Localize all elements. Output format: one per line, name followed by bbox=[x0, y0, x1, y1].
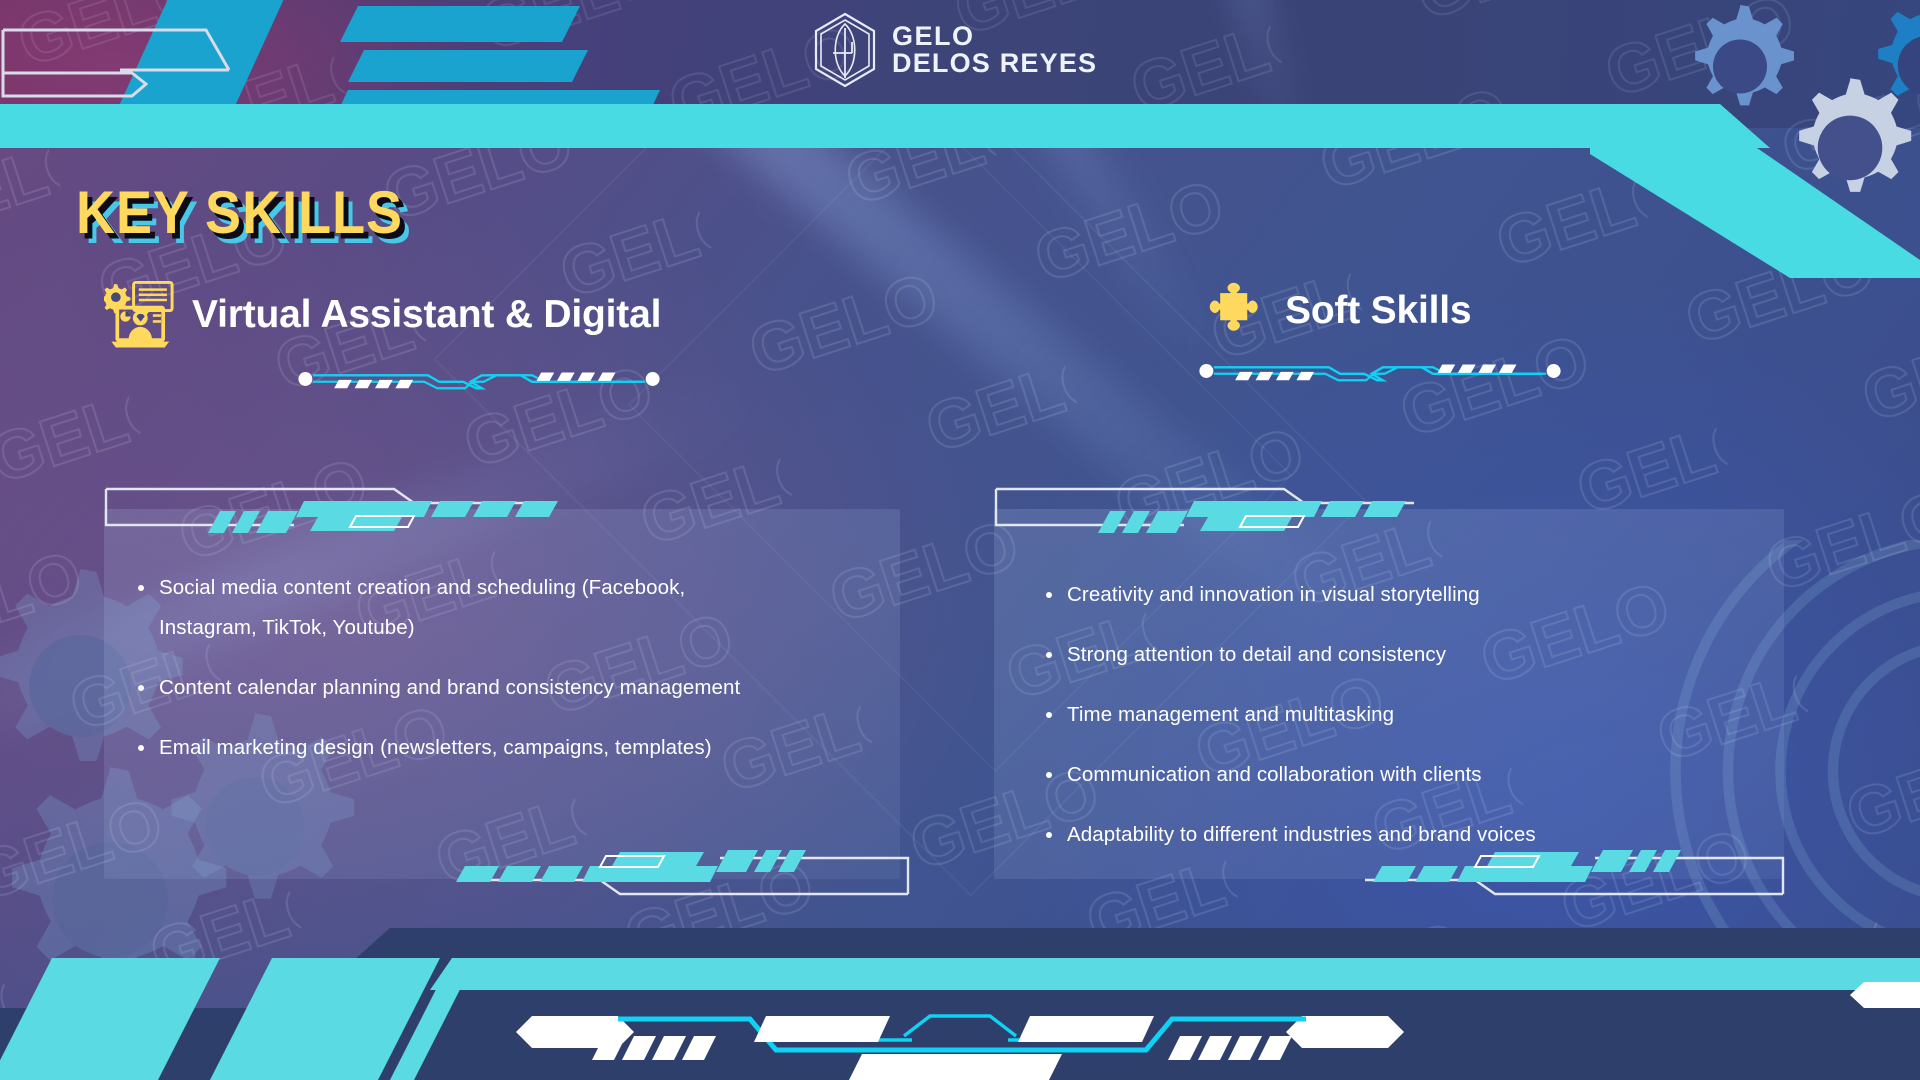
list-item: Email marketing design (newsletters, cam… bbox=[132, 728, 752, 768]
top-left-cyan-shape-3 bbox=[348, 50, 588, 82]
bullet-list-left-wrap: Social media content creation and schedu… bbox=[132, 568, 752, 788]
column-virtual-assistant: Virtual Assistant & Digital bbox=[104, 278, 804, 397]
list-item: Time management and multitasking bbox=[1040, 695, 1700, 735]
column-title-left: Virtual Assistant & Digital bbox=[192, 293, 661, 337]
bullet-list-left: Social media content creation and schedu… bbox=[132, 568, 752, 768]
list-item: Adaptability to different industries and… bbox=[1040, 815, 1700, 855]
bullet-list-right-wrap: Creativity and innovation in visual stor… bbox=[1040, 575, 1700, 875]
page-title: KEY SKILLS bbox=[76, 178, 403, 247]
virtual-assistant-screen-icon bbox=[104, 278, 178, 352]
column-header-left: Virtual Assistant & Digital bbox=[104, 278, 804, 352]
list-item: Strong attention to detail and consisten… bbox=[1040, 635, 1700, 675]
top-left-cyan-shape-2 bbox=[340, 6, 580, 42]
cyan-band-top bbox=[0, 104, 1920, 148]
divider-right bbox=[1185, 358, 1575, 384]
puzzle-piece-icon bbox=[1205, 278, 1271, 344]
column-title-right: Soft Skills bbox=[1285, 289, 1471, 333]
hexagon-monogram-icon bbox=[812, 12, 878, 88]
brand-logo: GELO DELOS REYES bbox=[812, 12, 1097, 88]
logo-line-1: GELO bbox=[892, 23, 1097, 50]
list-item: Communication and collaboration with cli… bbox=[1040, 755, 1700, 795]
list-item: Creativity and innovation in visual stor… bbox=[1040, 575, 1700, 615]
column-soft-skills: Soft Skills bbox=[1205, 278, 1805, 389]
bottom-left-cyan-4 bbox=[430, 958, 1920, 990]
divider-left bbox=[284, 366, 674, 392]
list-item: Content calendar planning and brand cons… bbox=[132, 668, 752, 708]
bullet-list-right: Creativity and innovation in visual stor… bbox=[1040, 575, 1700, 855]
column-header-right: Soft Skills bbox=[1205, 278, 1805, 344]
list-item: Social media content creation and schedu… bbox=[132, 568, 752, 648]
slide-root: GELO GELO bbox=[0, 0, 1920, 1080]
bottom-right-white-chevron bbox=[1850, 982, 1920, 1008]
logo-line-2: DELOS REYES bbox=[892, 50, 1097, 77]
